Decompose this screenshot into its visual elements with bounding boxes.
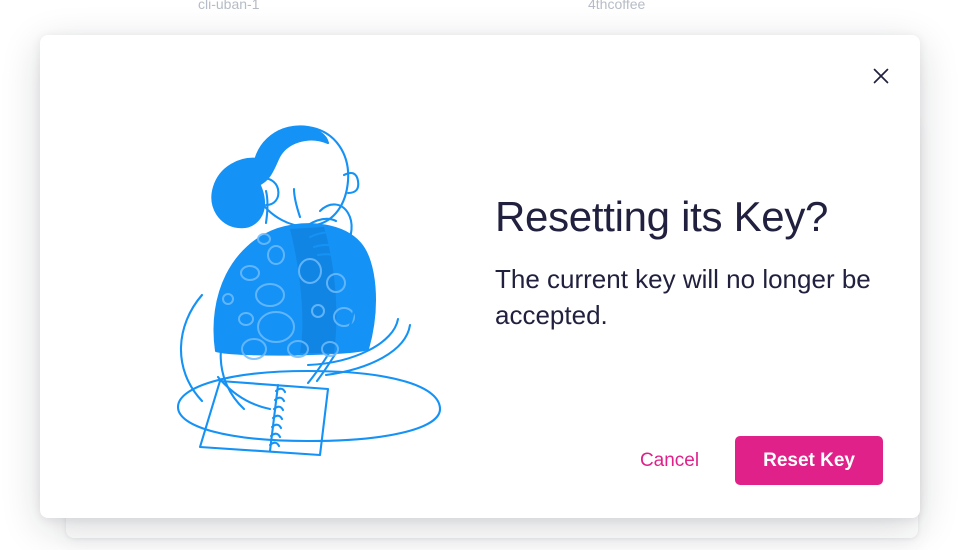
thinking-person-illustration xyxy=(158,119,464,463)
reset-key-button[interactable]: Reset Key xyxy=(735,436,883,485)
dialog-message: The current key will no longer be accept… xyxy=(495,262,895,334)
cancel-button[interactable]: Cancel xyxy=(626,441,713,480)
dialog-title: Resetting its Key? xyxy=(495,193,895,240)
reset-key-confirmation-dialog: Resetting its Key? The current key will … xyxy=(40,35,920,518)
close-icon[interactable] xyxy=(864,59,898,93)
dialog-action-bar: Cancel Reset Key xyxy=(626,436,883,485)
modal-text-column: Resetting its Key? The current key will … xyxy=(495,193,895,334)
